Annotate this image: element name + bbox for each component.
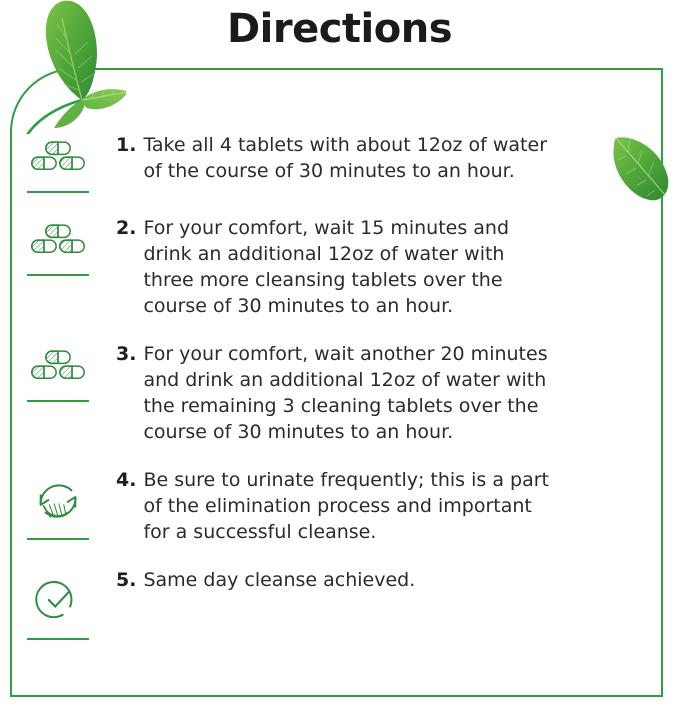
step-line: For your comfort, wait another 20 minute… (143, 341, 547, 367)
tablets-icon (27, 345, 89, 391)
steps-list: 1. Take all 4 tablets with about 12oz of… (0, 132, 679, 640)
step-body: For your comfort, wait another 20 minute… (143, 341, 547, 445)
step-line: Take all 4 tablets with about 12oz of wa… (143, 132, 547, 158)
step-line: course of 30 minutes to an hour. (143, 419, 547, 445)
check-circle-icon (27, 571, 89, 629)
directions-infographic: Directions (0, 0, 679, 709)
icon-divider (27, 538, 89, 540)
tablets-icon (27, 219, 89, 265)
step-line: three more cleansing tablets over the (143, 267, 509, 293)
step-icon-column (0, 341, 116, 402)
step-body: Take all 4 tablets with about 12oz of wa… (143, 132, 547, 184)
step-line: of the elimination process and important (143, 493, 549, 519)
step-number: 5. (116, 567, 136, 593)
step-line: course of 30 minutes to an hour. (143, 293, 509, 319)
tablets-icon (27, 136, 89, 182)
recycle-arrows-icon (27, 471, 89, 529)
step-line: drink an additional 12oz of water with (143, 241, 509, 267)
step-line: for a successful cleanse. (143, 519, 549, 545)
step-number: 3. (116, 341, 136, 367)
step-icon-column (0, 567, 116, 640)
step-icon-column (0, 215, 116, 276)
step-number: 4. (116, 467, 136, 493)
step-icon-column (0, 467, 116, 540)
step-line: For your comfort, wait 15 minutes and (143, 215, 509, 241)
step-text: 2. For your comfort, wait 15 minutes and… (116, 215, 679, 319)
step-text: 3. For your comfort, wait another 20 min… (116, 341, 679, 445)
step-line: Be sure to urinate frequently; this is a… (143, 467, 549, 493)
step-text: 4. Be sure to urinate frequently; this i… (116, 467, 679, 545)
icon-divider (27, 638, 89, 640)
step-number: 2. (116, 215, 136, 241)
step-line: of the course of 30 minutes to an hour. (143, 158, 547, 184)
step-body: For your comfort, wait 15 minutes and dr… (143, 215, 509, 319)
step-body: Be sure to urinate frequently; this is a… (143, 467, 549, 545)
step-line: and drink an additional 12oz of water wi… (143, 367, 547, 393)
list-item: 5. Same day cleanse achieved. (0, 567, 679, 640)
icon-divider (27, 274, 89, 276)
list-item: 4. Be sure to urinate frequently; this i… (0, 467, 679, 545)
step-text: 1. Take all 4 tablets with about 12oz of… (116, 132, 679, 184)
list-item: 3. For your comfort, wait another 20 min… (0, 341, 679, 445)
page-title: Directions (0, 6, 679, 52)
icon-divider (27, 400, 89, 402)
step-line: the remaining 3 cleaning tablets over th… (143, 393, 547, 419)
step-icon-column (0, 132, 116, 193)
step-number: 1. (116, 132, 136, 158)
icon-divider (27, 191, 89, 193)
step-line: Same day cleanse achieved. (143, 567, 415, 593)
step-body: Same day cleanse achieved. (143, 567, 415, 593)
step-text: 5. Same day cleanse achieved. (116, 567, 679, 593)
list-item: 1. Take all 4 tablets with about 12oz of… (0, 132, 679, 193)
list-item: 2. For your comfort, wait 15 minutes and… (0, 215, 679, 319)
